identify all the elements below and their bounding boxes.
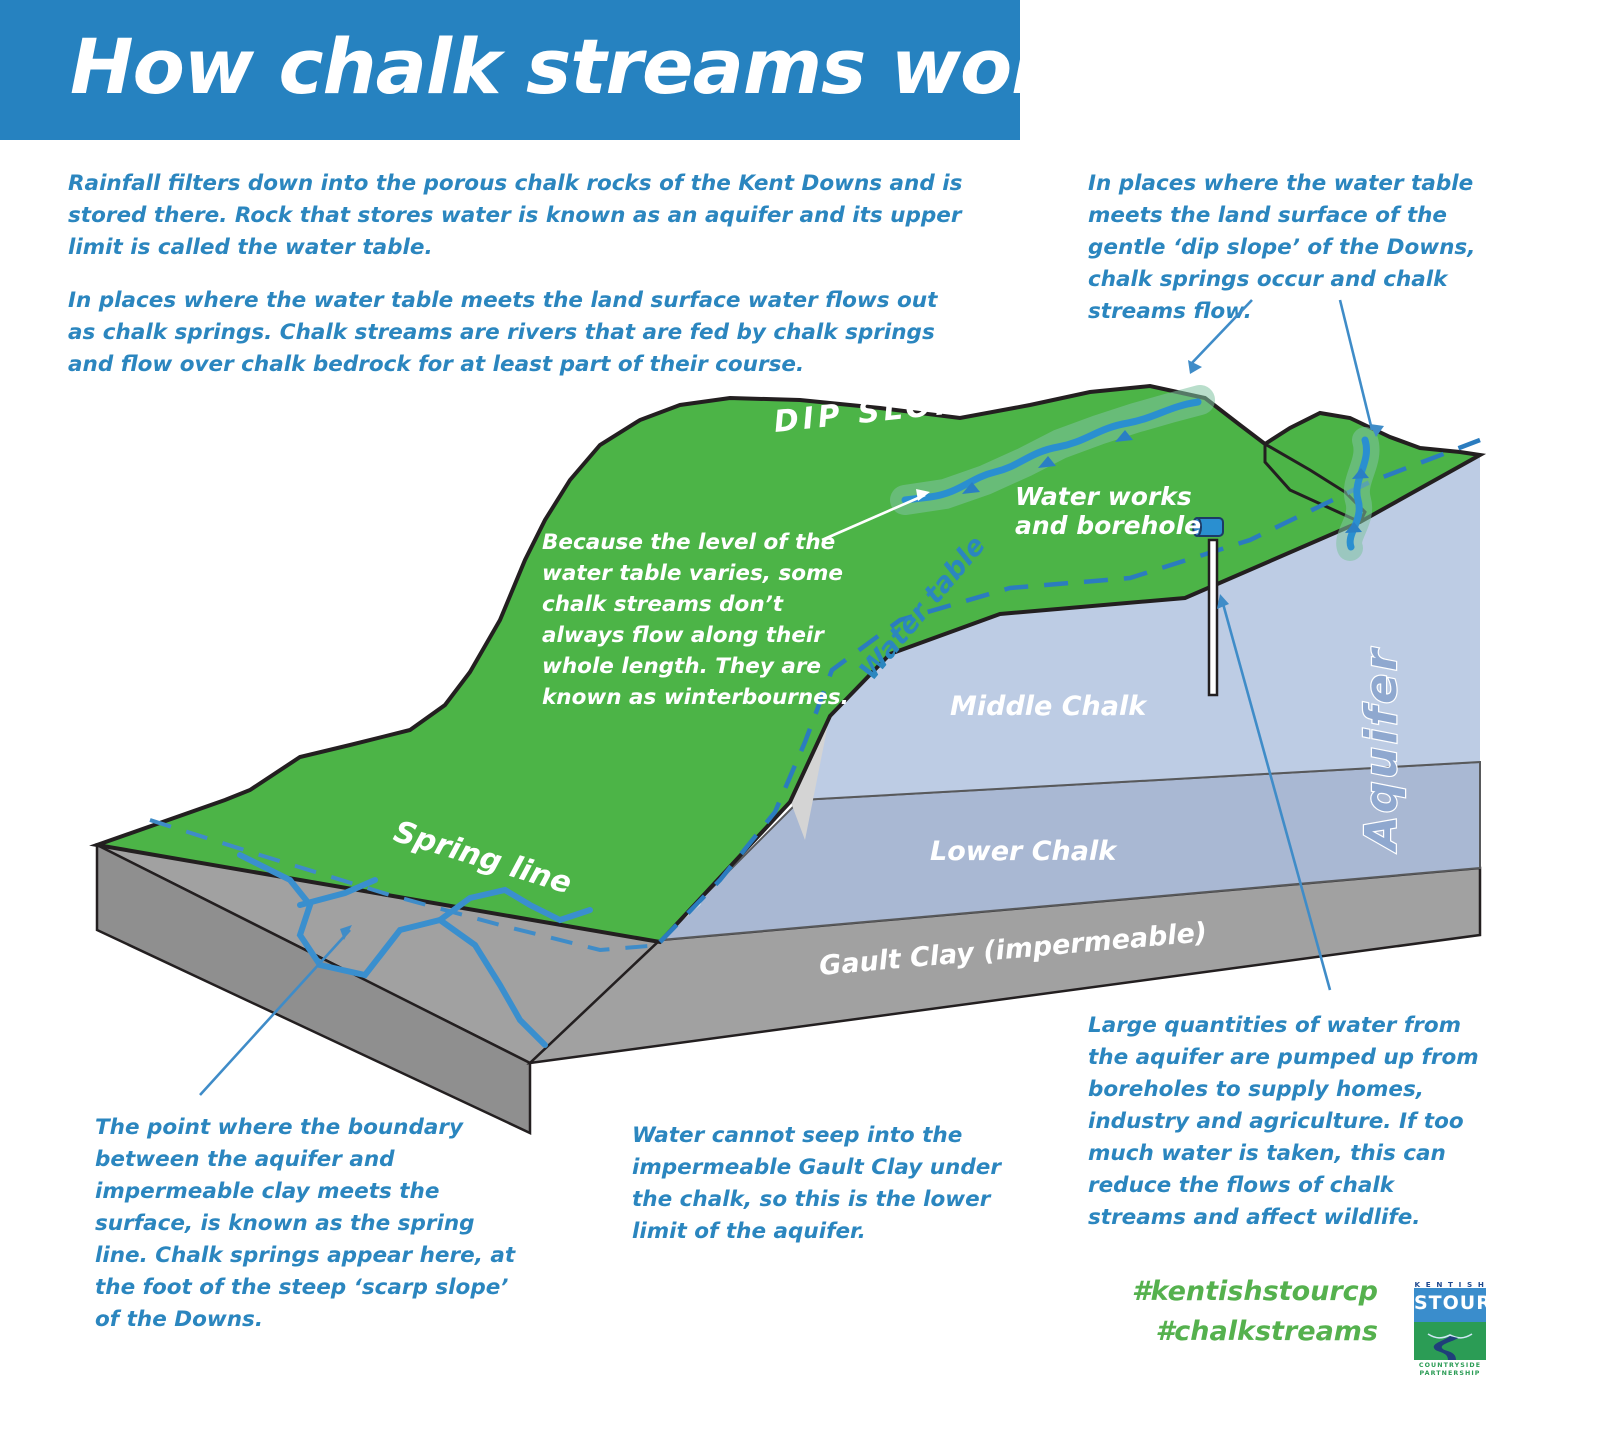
logo-countryside-text: COUNTRYSIDE [1414,1362,1486,1369]
hashtag-kentishstourcp[interactable]: #kentishstourcp [1120,1272,1378,1312]
label-water-works-text: Water works [1015,482,1192,511]
label-aquifer: Aquifer [1356,646,1407,853]
label-water-works: Water works [1015,482,1192,511]
label-middle-chalk: Middle Chalk [950,691,1148,722]
logo-partnership-text: PARTNERSHIP [1414,1370,1486,1377]
logo-river-icon [1418,1330,1482,1360]
logo-stour-text: STOUR [1414,1292,1486,1314]
label-lower-chalk-text: Lower Chalk [930,836,1118,867]
hashtag-chalkstreams[interactable]: #chalkstreams [1120,1312,1378,1352]
label-middle-chalk-text: Middle Chalk [950,691,1148,722]
label-aquifer-text: Aquifer [1356,646,1407,853]
winterbourne-annotation: Because the level of the water table var… [542,527,862,713]
logo-kentish-text: K E N T I S H [1414,1280,1486,1289]
label-and-borehole-text: and borehole [1015,511,1201,540]
chalk-stream-block-diagram: DIP SLOPE SCARP SLOPE Water works and bo… [0,0,1600,1432]
hashtags-block: #kentishstourcp #chalkstreams [1120,1272,1378,1352]
label-lower-chalk: Lower Chalk [930,836,1118,867]
logo-landscape-panel [1414,1322,1486,1360]
kentish-stour-countryside-partnership-logo: K E N T I S H STOUR COUNTRYSIDE PARTNERS… [1414,1280,1486,1376]
label-and-borehole: and borehole [1015,511,1201,540]
